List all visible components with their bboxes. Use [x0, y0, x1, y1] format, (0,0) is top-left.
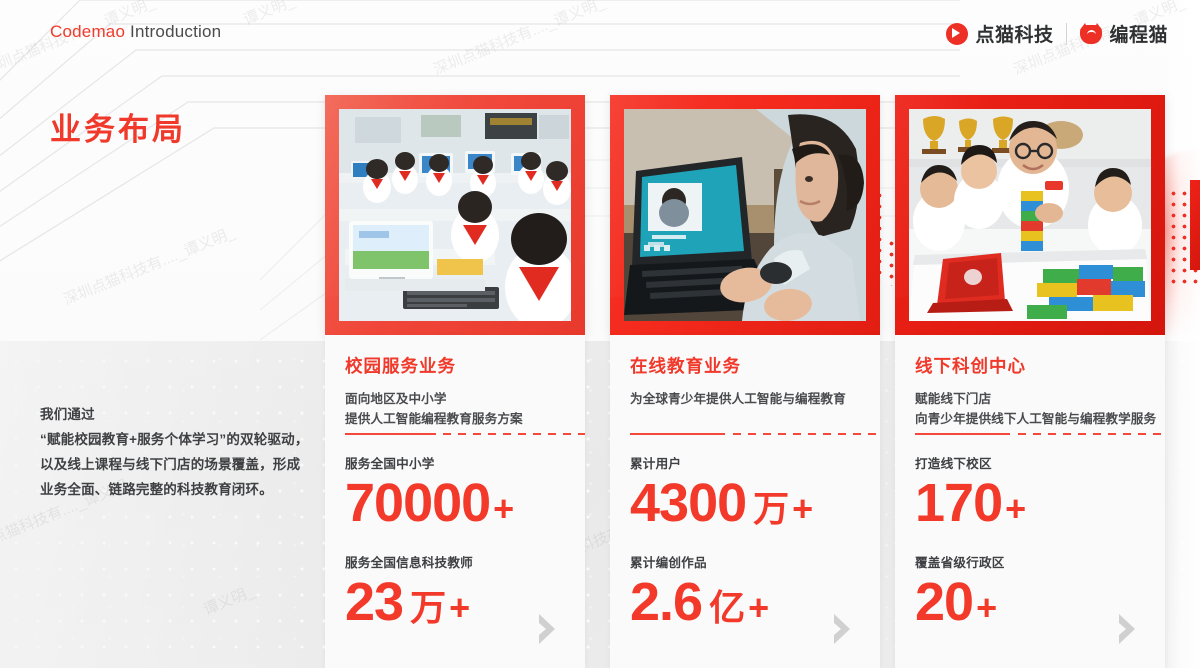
stat-number: 23	[345, 572, 403, 632]
card-divider	[630, 433, 880, 435]
stat-label: 打造线下校区	[915, 453, 1155, 472]
stat-unit: 亿	[709, 587, 745, 628]
page-title: 业务布局	[50, 104, 186, 149]
logo-codemao-label: 编程猫	[1109, 20, 1168, 47]
card-photo-offline-class	[909, 109, 1151, 321]
brand-name: Codemao	[50, 22, 125, 41]
stat-unit: 万	[410, 587, 446, 628]
intro-line: 业务全面、链路完整的科技教育闭环。	[40, 477, 330, 502]
business-card-list: 校园服务业务 面向地区及中小学 提供人工智能编程教育服务方案 服务全国中小学 7…	[0, 0, 1200, 668]
card-body: 在线教育业务 为全球青少年提供人工智能与编程教育 累计用户 4300万+	[610, 335, 880, 668]
card-subtitle-line: 向青少年提供线下人工智能与编程教学服务	[915, 409, 1145, 429]
stat-plus: +	[976, 587, 997, 628]
stat-item: 打造线下校区 170+	[915, 453, 1155, 530]
stat-label: 服务全国信息科技教师	[345, 552, 575, 571]
card-body: 校园服务业务 面向地区及中小学 提供人工智能编程教育服务方案 服务全国中小学 7…	[325, 335, 585, 668]
logo-dianmao[interactable]: 点猫科技	[946, 20, 1053, 47]
card-title: 线下科创中心	[915, 353, 1145, 378]
stat-label: 服务全国中小学	[345, 453, 575, 472]
stat-number: 4300	[630, 473, 746, 533]
stat-number: 170	[915, 473, 1002, 533]
card-photo-classroom	[339, 109, 571, 321]
logo-dianmao-label: 点猫科技	[975, 20, 1053, 47]
stat-number: 20	[915, 572, 973, 632]
card-subtitle-line: 赋能线下门店	[915, 389, 1145, 409]
brand-suffix: Introduction	[125, 22, 221, 41]
logo-divider	[1066, 23, 1067, 45]
intro-line: 我们通过	[40, 402, 330, 427]
chevron-right-icon[interactable]	[535, 612, 561, 646]
stat-value: 4300万+	[630, 476, 870, 530]
slide-header: Codemao Introduction 点猫科技 编程猫	[0, 0, 1200, 62]
chevron-right-icon[interactable]	[1115, 612, 1141, 646]
stat-plus: +	[1005, 488, 1026, 529]
logo-group: 点猫科技 编程猫	[946, 20, 1168, 47]
card-stats: 服务全国中小学 70000+ 服务全国信息科技教师 23万+	[345, 453, 575, 629]
chevron-right-icon[interactable]	[830, 612, 856, 646]
card-stats: 打造线下校区 170+ 覆盖省级行政区 20+	[915, 453, 1155, 629]
stat-label: 累计用户	[630, 453, 870, 472]
stat-plus: +	[449, 587, 470, 628]
card-title: 校园服务业务	[345, 353, 565, 378]
intro-line: 以及线上课程与线下门店的场景覆盖，形成	[40, 452, 330, 477]
stat-number: 70000	[345, 473, 490, 533]
cat-head-icon	[1080, 23, 1102, 45]
logo-codemao[interactable]: 编程猫	[1080, 20, 1168, 47]
card-subtitle-line: 面向地区及中小学	[345, 389, 565, 409]
card-photo-frame	[610, 95, 880, 335]
stat-plus: +	[748, 587, 769, 628]
stat-plus: +	[792, 488, 813, 529]
business-card-online-education[interactable]: 在线教育业务 为全球青少年提供人工智能与编程教育 累计用户 4300万+	[610, 95, 880, 668]
intro-line: “赋能校园教育+服务个体学习”的双轮驱动，	[40, 427, 330, 452]
card-subtitle-line: 提供人工智能编程教育服务方案	[345, 409, 565, 429]
card-subtitle: 赋能线下门店 向青少年提供线下人工智能与编程教学服务	[915, 389, 1145, 429]
stat-value: 70000+	[345, 476, 575, 530]
stat-label: 累计编创作品	[630, 552, 870, 571]
business-card-campus-service[interactable]: 校园服务业务 面向地区及中小学 提供人工智能编程教育服务方案 服务全国中小学 7…	[325, 95, 585, 668]
card-body: 线下科创中心 赋能线下门店 向青少年提供线下人工智能与编程教学服务 打造线下校区…	[895, 335, 1165, 668]
card-stats: 累计用户 4300万+ 累计编创作品 2.6亿+	[630, 453, 870, 629]
stat-label: 覆盖省级行政区	[915, 552, 1155, 571]
business-card-offline-center[interactable]: 线下科创中心 赋能线下门店 向青少年提供线下人工智能与编程教学服务 打造线下校区…	[895, 95, 1165, 668]
card-photo-online-class	[624, 109, 866, 321]
card-divider	[915, 433, 1165, 435]
stat-number: 2.6	[630, 572, 702, 632]
card-subtitle: 为全球青少年提供人工智能与编程教育	[630, 389, 860, 409]
card-subtitle: 面向地区及中小学 提供人工智能编程教育服务方案	[345, 389, 565, 429]
stat-unit: 万	[753, 488, 789, 529]
stat-item: 累计用户 4300万+	[630, 453, 870, 530]
card-photo-frame	[325, 95, 585, 335]
breadcrumb: Codemao Introduction	[50, 22, 221, 42]
card-subtitle-line: 为全球青少年提供人工智能与编程教育	[630, 389, 860, 409]
stat-item: 服务全国中小学 70000+	[345, 453, 575, 530]
slide-root: 深圳点猫科技有...._谭义明_ 谭义明_ 深圳点猫科技有...._谭义明_ 深…	[0, 0, 1200, 668]
intro-paragraph: 我们通过 “赋能校园教育+服务个体学习”的双轮驱动， 以及线上课程与线下门店的场…	[40, 402, 330, 502]
stat-plus: +	[493, 488, 514, 529]
circle-flag-icon	[946, 23, 968, 45]
card-divider	[345, 433, 585, 435]
card-title: 在线教育业务	[630, 353, 860, 378]
stat-value: 170+	[915, 476, 1155, 530]
card-photo-frame	[895, 95, 1165, 335]
